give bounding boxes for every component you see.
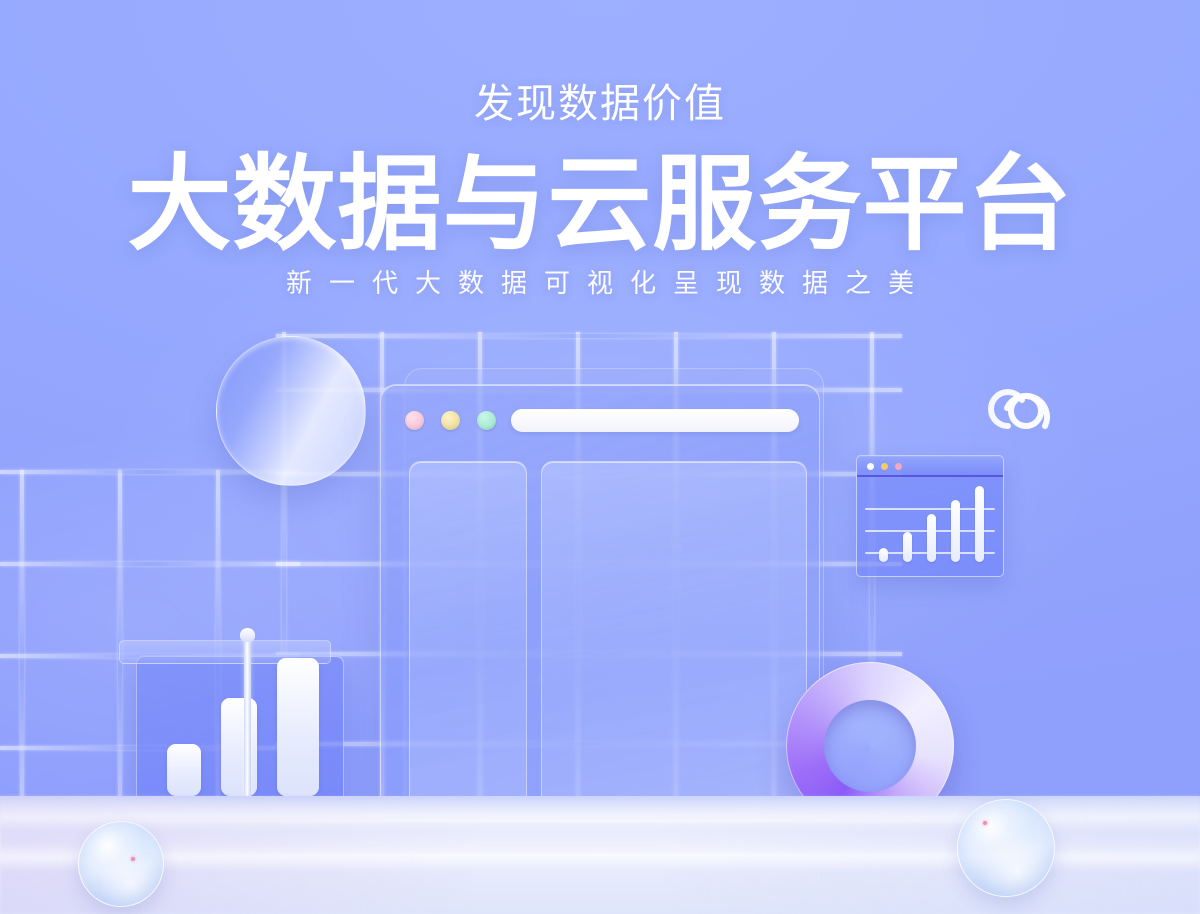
- bar: [903, 532, 912, 562]
- browser-window[interactable]: [380, 384, 820, 832]
- content-panel[interactable]: [541, 461, 807, 827]
- eyebrow-text: 发现数据价值: [0, 84, 1200, 124]
- close-dot[interactable]: [405, 411, 424, 430]
- maximize-dot[interactable]: [895, 463, 902, 470]
- sphere-spark: [131, 857, 135, 861]
- tagline-text: 新一代大数据可视化呈现数据之美: [0, 270, 1200, 296]
- address-bar[interactable]: [511, 409, 799, 432]
- bar: [951, 500, 960, 562]
- sidebar-panel[interactable]: [409, 461, 527, 827]
- bar: [975, 486, 984, 562]
- bar: [277, 658, 319, 796]
- maximize-dot[interactable]: [477, 411, 496, 430]
- page-title: 大数据与云服务平台: [0, 150, 1200, 260]
- mini-window-titlebar: [857, 456, 1003, 477]
- minimize-dot[interactable]: [881, 463, 888, 470]
- glass-sphere-right: [957, 799, 1055, 897]
- mini-bar-chart: [857, 479, 1003, 576]
- mini-chart-window[interactable]: [856, 455, 1004, 577]
- close-dot[interactable]: [867, 463, 874, 470]
- bar: [221, 698, 257, 796]
- glass-sphere-left: [78, 821, 164, 907]
- poster-canvas: 发现数据价值 大数据与云服务平台 新一代大数据可视化呈现数据之美: [0, 0, 1200, 914]
- minimize-dot[interactable]: [441, 411, 460, 430]
- sphere-spark: [983, 821, 987, 825]
- glass-disc: [216, 336, 366, 486]
- browser-titlebar: [381, 385, 819, 447]
- bar: [167, 744, 201, 796]
- lamp-knob: [240, 628, 255, 642]
- bar: [879, 548, 888, 562]
- cloud-icon: [978, 364, 1068, 434]
- bar: [927, 514, 936, 562]
- headline-block: 发现数据价值 大数据与云服务平台 新一代大数据可视化呈现数据之美: [0, 84, 1200, 296]
